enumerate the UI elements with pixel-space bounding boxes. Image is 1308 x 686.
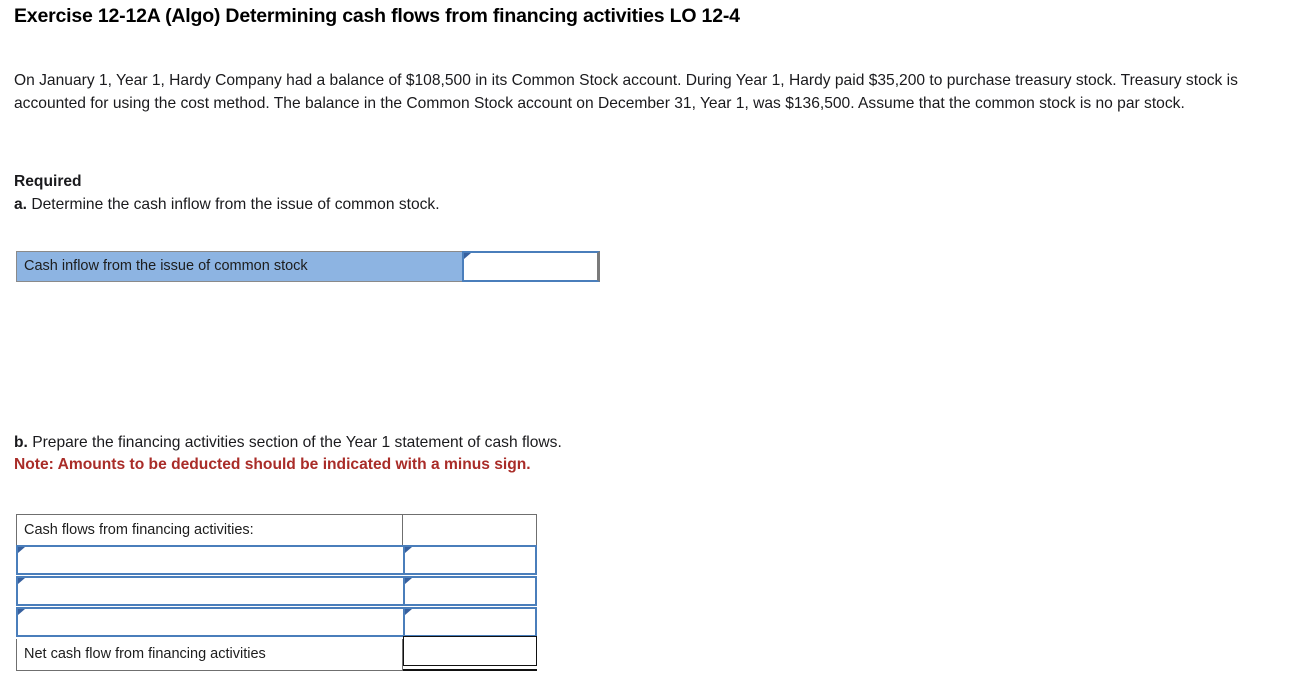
entry-description-input-3[interactable] [16, 607, 405, 637]
part-a-prompt: a. Determine the cash inflow from the is… [14, 194, 440, 215]
entry-amount-input-2[interactable] [403, 576, 537, 606]
entry-description-input-2[interactable] [16, 576, 405, 606]
financing-activities-table: Cash flows from financing activities: Ne… [16, 514, 537, 671]
dropdown-triangle-icon [18, 578, 25, 584]
part-a-prompt-text: Determine the cash inflow from the issue… [27, 196, 440, 213]
table-header-label: Cash flows from financing activities: [16, 514, 403, 546]
total-double-underline [403, 669, 537, 671]
dropdown-triangle-icon [464, 253, 471, 259]
dropdown-triangle-icon [18, 547, 25, 553]
part-a-answer-table: Cash inflow from the issue of common sto… [16, 251, 600, 282]
dropdown-triangle-icon [405, 609, 412, 615]
page-title: Exercise 12-12A (Algo) Determining cash … [14, 2, 740, 30]
net-cash-flow-label: Net cash flow from financing activities [16, 639, 403, 671]
entry-amount-input-3[interactable] [403, 607, 537, 637]
required-heading: Required [14, 171, 82, 192]
part-a-row-label: Cash inflow from the issue of common sto… [16, 251, 463, 282]
part-a-amount-input[interactable] [462, 251, 600, 282]
table-row [16, 545, 537, 575]
part-b-prompt: b. Prepare the financing activities sect… [14, 432, 562, 453]
dropdown-triangle-icon [18, 609, 25, 615]
table-row [16, 607, 537, 637]
deduction-note: Note: Amounts to be deducted should be i… [14, 454, 531, 475]
part-b-marker: b. [14, 434, 28, 451]
dropdown-triangle-icon [405, 578, 412, 584]
net-cash-flow-amount [403, 636, 537, 666]
dropdown-triangle-icon [405, 547, 412, 553]
part-b-prompt-text: Prepare the financing activities section… [28, 434, 562, 451]
entry-amount-input-1[interactable] [403, 545, 537, 575]
entry-description-input-1[interactable] [16, 545, 405, 575]
problem-statement: On January 1, Year 1, Hardy Company had … [14, 70, 1264, 115]
part-a-marker: a. [14, 196, 27, 213]
table-header-amount-cell [403, 514, 537, 546]
table-row [16, 576, 537, 606]
